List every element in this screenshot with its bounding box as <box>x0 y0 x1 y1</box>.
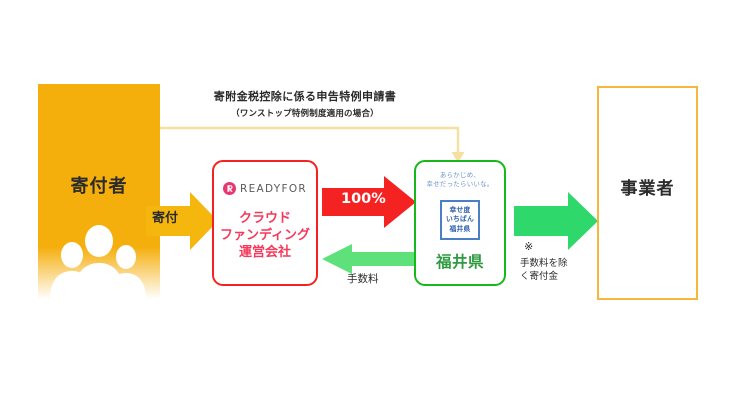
full-transfer-arrow-label: 100% <box>341 191 386 207</box>
fukui-tagline-line2: 幸せだったらいいな。 <box>416 180 504 189</box>
donor-label: 寄付者 <box>38 172 160 198</box>
fukui-stamp-line1: 幸せ度 <box>450 206 471 215</box>
fukui-stamp-line2: いちばん <box>446 215 474 224</box>
crowdfunding-name-line3: 運営会社 <box>214 244 316 261</box>
fukui-tagline: あらかじめ、 幸せだったらいいな。 <box>416 171 504 190</box>
crowdfunding-name-line2: ファンディング <box>214 227 316 244</box>
application-form-caption-main: 寄附金税控除に係る申告特例申請書 <box>160 88 450 104</box>
donate-arrow-label: 寄付 <box>152 207 178 226</box>
readyfor-mark-icon <box>223 182 236 195</box>
donor-node: 寄付者 <box>38 84 160 299</box>
operator-label: 事業者 <box>599 174 696 199</box>
fukui-name: 福井県 <box>416 250 504 272</box>
fee-arrow-label: 手数料 <box>347 271 379 286</box>
operator-node: 事業者 <box>597 86 698 300</box>
fukui-tagline-line1: あらかじめ、 <box>416 171 504 180</box>
net-donation-note-mark: ※ <box>524 240 533 253</box>
fee-arrow <box>322 244 416 274</box>
people-icon <box>38 221 160 299</box>
net-donation-note-text: 手数料を除 く寄付金 <box>520 258 580 284</box>
readyfor-wordmark: READYFOR <box>240 183 307 195</box>
crowdfunding-node: READYFOR クラウド ファンディング 運営会社 <box>212 160 318 286</box>
crowdfunding-name-line1: クラウド <box>214 210 316 227</box>
application-form-caption: 寄附金税控除に係る申告特例申請書 （ワンストップ特例制度適用の場合） <box>160 88 450 119</box>
fukui-stamp-logo: 幸せ度 いちばん 福井県 <box>440 200 480 240</box>
crowdfunding-name: クラウド ファンディング 運営会社 <box>214 210 316 261</box>
readyfor-logo: READYFOR <box>214 182 316 195</box>
fukui-stamp-line3: 福井県 <box>450 225 471 234</box>
application-form-caption-sub: （ワンストップ特例制度適用の場合） <box>160 107 450 119</box>
net-donation-note-line1: 手数料を除 <box>520 258 580 271</box>
diagram-canvas: 寄附金税控除に係る申告特例申請書 （ワンストップ特例制度適用の場合） 寄付者 寄… <box>0 0 736 413</box>
fukui-node: あらかじめ、 幸せだったらいいな。 幸せ度 いちばん 福井県 福井県 <box>414 160 506 286</box>
net-donation-note-line2: く寄付金 <box>520 271 580 284</box>
